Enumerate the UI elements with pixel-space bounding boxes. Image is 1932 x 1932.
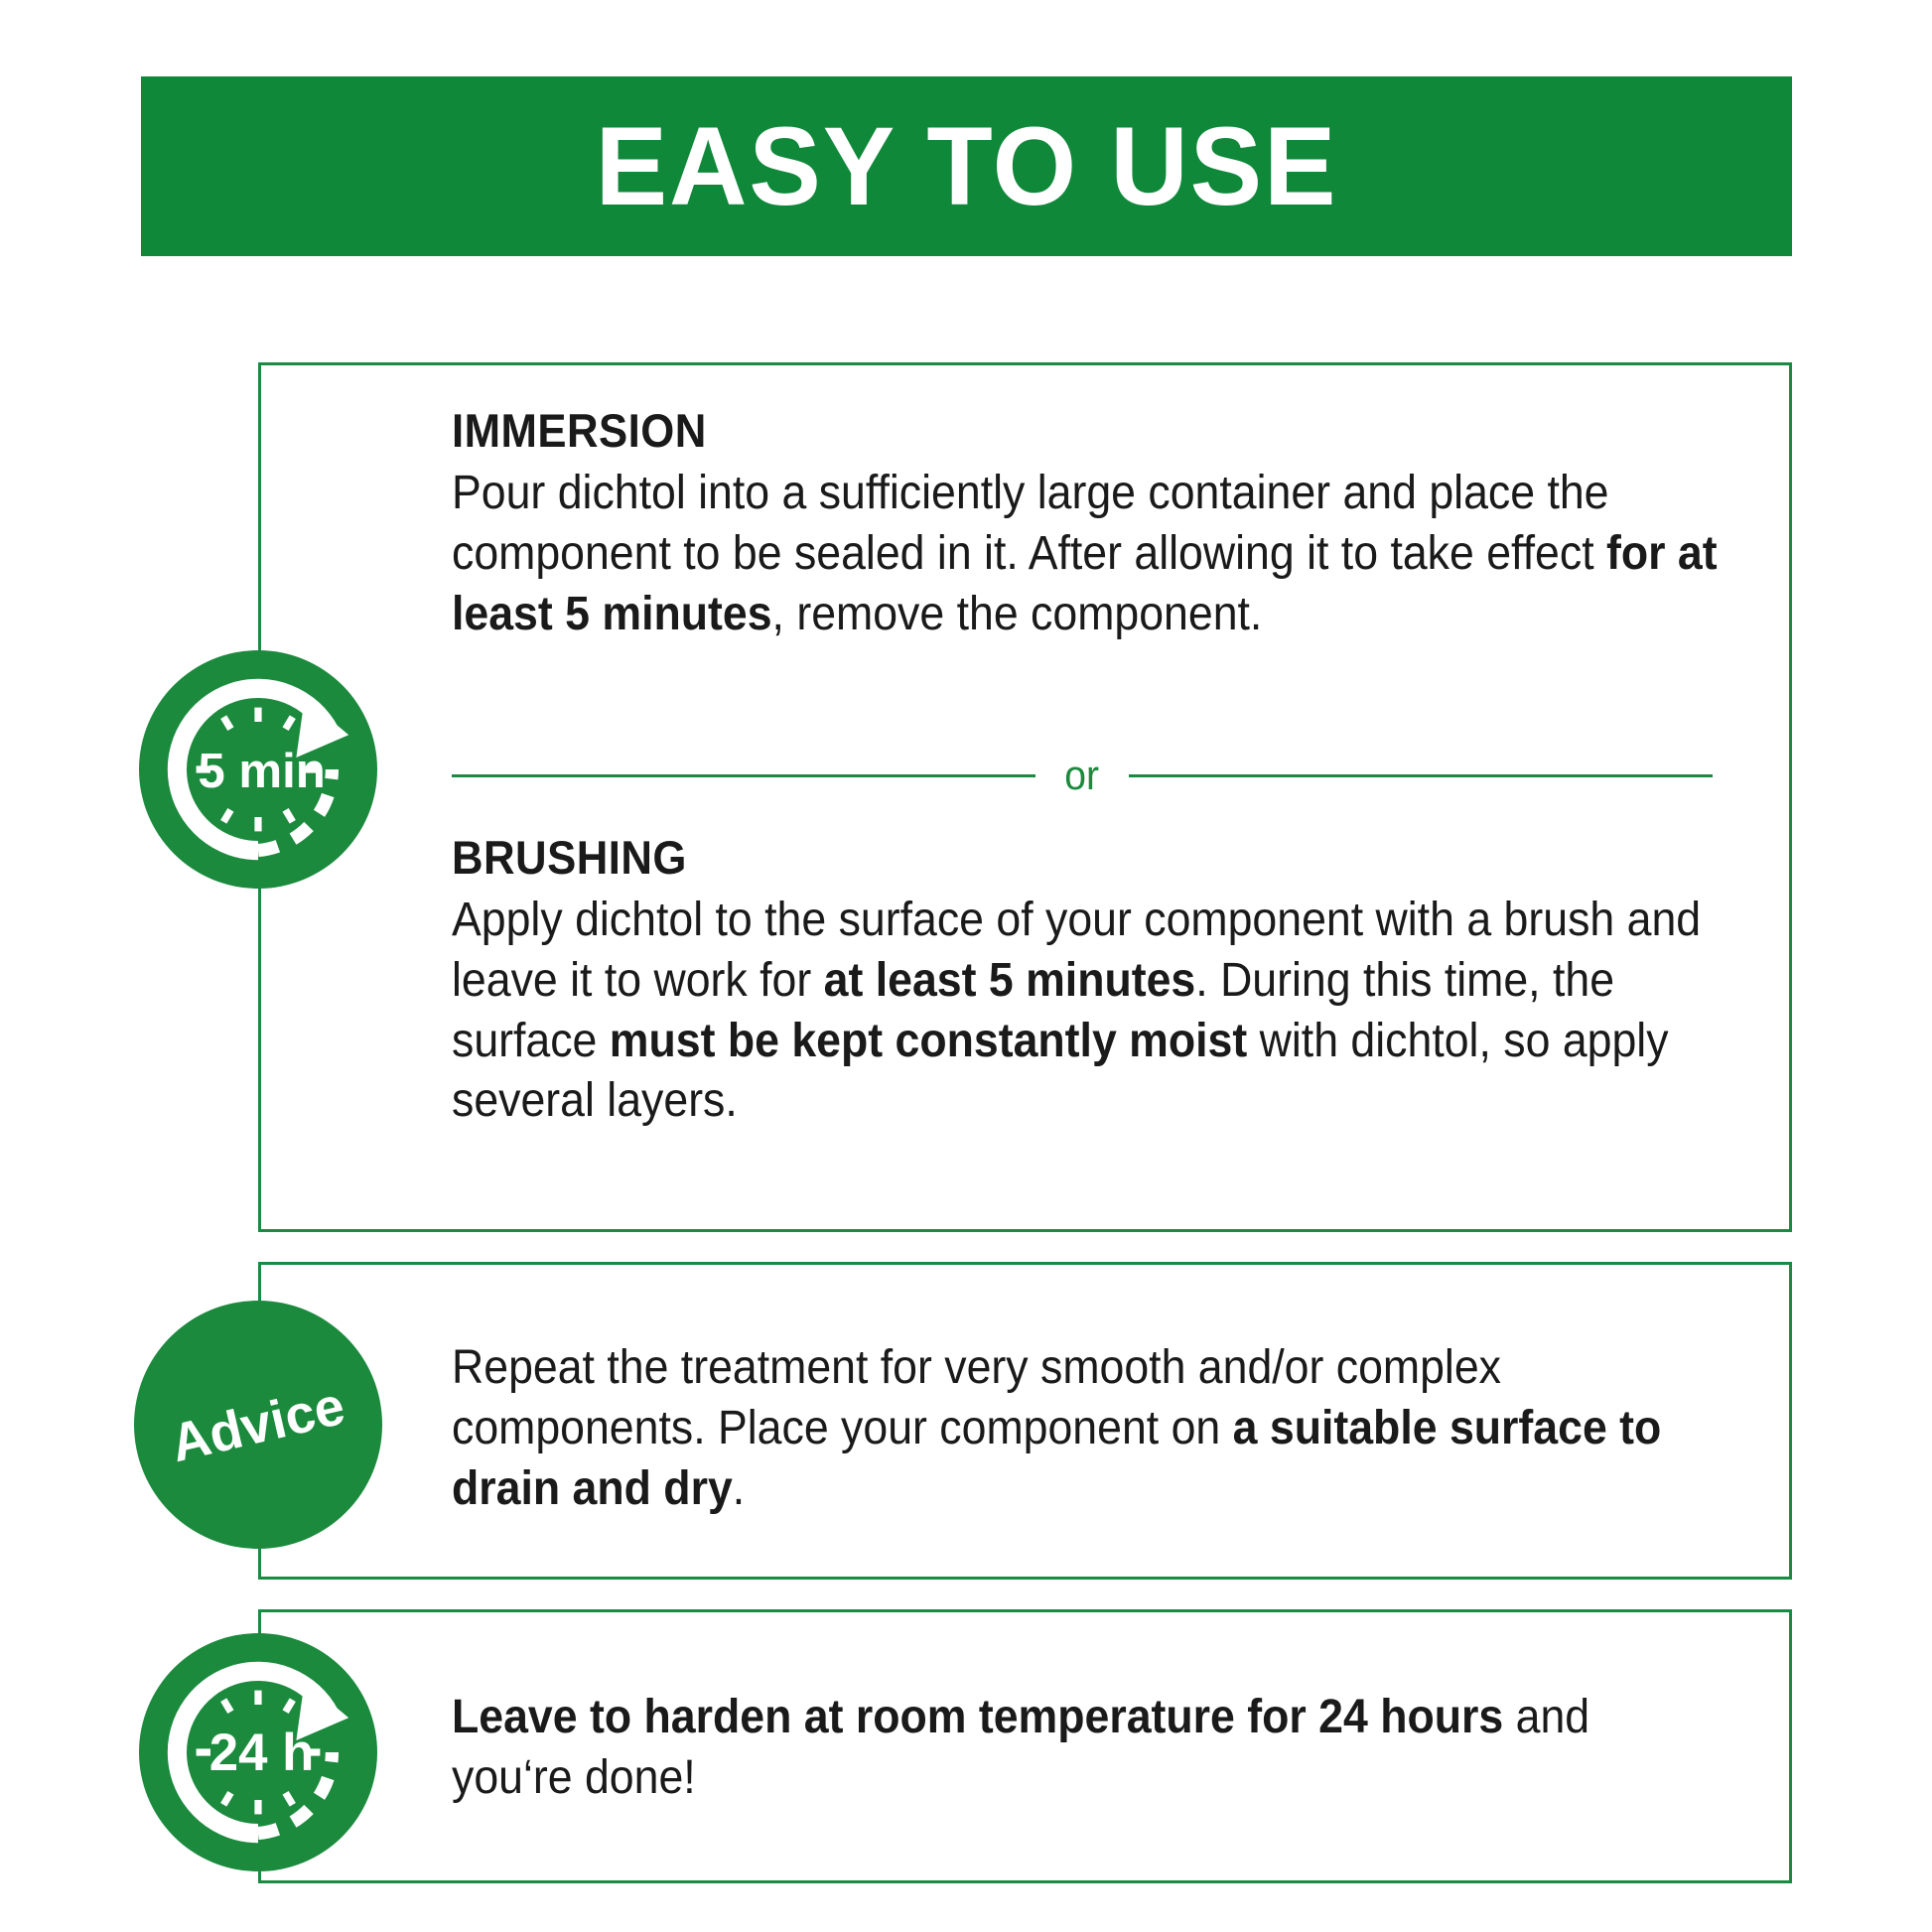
divider-rule-right [1129, 774, 1713, 777]
or-divider: or [452, 755, 1713, 796]
immersion-body: Pour dichtol into a sufficiently large c… [452, 464, 1762, 645]
harden-body: Leave to harden at room temperature for … [452, 1688, 1693, 1809]
immersion-section: IMMERSION Pour dichtol into a sufficient… [452, 405, 1762, 644]
harden-section: Leave to harden at room temperature for … [452, 1688, 1693, 1809]
brushing-body: Apply dichtol to the surface of your com… [452, 891, 1762, 1133]
brushing-heading: BRUSHING [452, 832, 1671, 885]
brushing-section: BRUSHING Apply dichtol to the surface of… [452, 832, 1762, 1132]
badge-label: 5 min [198, 744, 325, 798]
advice-section: Repeat the treatment for very smooth and… [452, 1338, 1693, 1520]
badge-label: 24 h [209, 1724, 315, 1782]
badge-label: Advice [166, 1375, 351, 1474]
clock-arrow-icon: 24 h [139, 1633, 377, 1871]
clock-arrow-icon: 5 min [139, 650, 377, 889]
divider-label: or [1065, 755, 1100, 796]
advice-body: Repeat the treatment for very smooth and… [452, 1338, 1693, 1520]
badge-24-hours: 24 h [139, 1633, 377, 1871]
header-banner: EASY TO USE [141, 76, 1792, 256]
immersion-heading: IMMERSION [452, 405, 1671, 458]
page-title: EASY TO USE [596, 111, 1338, 222]
divider-rule-left [452, 774, 1035, 777]
badge-advice: Advice [134, 1301, 382, 1549]
badge-5-minutes: 5 min [139, 650, 377, 889]
